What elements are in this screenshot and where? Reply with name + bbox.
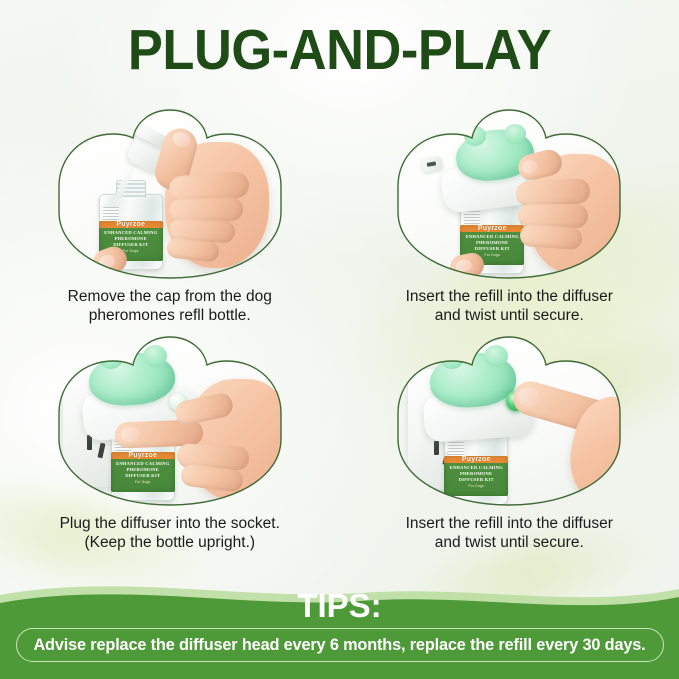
step-panel-4: Puyrzoe ENHANCED CALMING PHEROMONE DIFFU… xyxy=(340,335,679,552)
step-2-caption: Insert the refill into the diffuser and … xyxy=(359,287,659,325)
step-2-photo-clip: Puyrzoe ENHANCED CALMING PHEROMONE DIFFU… xyxy=(386,108,632,280)
tips-content: TIPS: Advise replace the diffuser head e… xyxy=(0,575,679,679)
brand-name: Puyrzoe xyxy=(478,225,507,233)
finger-nail xyxy=(516,385,542,409)
ring-finger xyxy=(520,224,583,250)
step-4-photo-clip: Puyrzoe ENHANCED CALMING PHEROMONE DIFFU… xyxy=(386,335,632,507)
step-1-photo: Puyrzoe ENHANCED CALMING PHEROMONE DIFFU… xyxy=(47,108,293,280)
socket-hole xyxy=(97,443,105,459)
step-2-caption-line-1: Insert the refill into the diffuser xyxy=(359,287,659,306)
step-1-caption-line-2: pheromones refll bottle. xyxy=(20,306,320,325)
tips-title: TIPS: xyxy=(297,589,381,623)
finger-nail xyxy=(97,253,116,271)
finger-nail xyxy=(120,427,140,443)
step-1-photo-clip: Puyrzoe ENHANCED CALMING PHEROMONE DIFFU… xyxy=(47,108,293,280)
label-text: ENHANCED CALMING PHEROMONE DIFFUSER KIT xyxy=(116,461,169,479)
diffuser-ear-right xyxy=(143,345,167,367)
bottle-label: Puyrzoe ENHANCED CALMING PHEROMONE DIFFU… xyxy=(111,452,175,492)
bottle-label: Puyrzoe ENHANCED CALMING PHEROMONE DIFFU… xyxy=(444,456,508,496)
brand-name: Puyrzoe xyxy=(116,221,145,229)
thumb-nail xyxy=(521,159,539,175)
step-panel-3: Puyrzoe ENHANCED CALMING PHEROMONE DIFFU… xyxy=(0,335,340,552)
label-line-3: DIFFUSER KIT xyxy=(116,473,169,479)
step-1-caption: Remove the cap from the dog pheromones r… xyxy=(20,287,320,325)
page-title: PLUG-AND-PLAY xyxy=(27,22,652,79)
label-footnote: For Dogs xyxy=(135,480,151,484)
diffuser-ear-left xyxy=(99,347,123,369)
plug-prong xyxy=(427,161,437,167)
step-4-caption-line-2: and twist until secure. xyxy=(359,533,659,552)
step-2-photo: Puyrzoe ENHANCED CALMING PHEROMONE DIFFU… xyxy=(386,108,632,280)
label-footnote: For Dogs xyxy=(468,484,484,488)
step-3-caption-line-1: Plug the diffuser into the socket. xyxy=(20,514,320,533)
step-3-photo: Puyrzoe ENHANCED CALMING PHEROMONE DIFFU… xyxy=(47,335,293,507)
label-footnote: For Dogs xyxy=(123,249,139,253)
label-footnote: For Dogs xyxy=(484,253,500,257)
step-3-caption-line-2: (Keep the bottle upright.) xyxy=(20,533,320,552)
step-4-photo: Puyrzoe ENHANCED CALMING PHEROMONE DIFFU… xyxy=(386,335,632,507)
finger-nail xyxy=(455,258,473,273)
step-1-caption-line-1: Remove the cap from the dog xyxy=(20,287,320,306)
label-line-3: DIFFUSER KIT xyxy=(450,477,503,483)
index-finger xyxy=(516,178,591,207)
brand-name: Puyrzoe xyxy=(128,452,157,460)
tips-text-pill: Advise replace the diffuser head every 6… xyxy=(16,628,664,662)
step-panel-1: Puyrzoe ENHANCED CALMING PHEROMONE DIFFU… xyxy=(0,108,340,325)
label-line-3: DIFFUSER KIT xyxy=(466,246,519,252)
steps-grid: Puyrzoe ENHANCED CALMING PHEROMONE DIFFU… xyxy=(0,108,679,552)
step-3-caption: Plug the diffuser into the socket. (Keep… xyxy=(20,514,320,552)
step-3-photo-clip: Puyrzoe ENHANCED CALMING PHEROMONE DIFFU… xyxy=(47,335,293,507)
label-text: ENHANCED CALMING PHEROMONE DIFFUSER KIT xyxy=(450,465,503,483)
step-panel-2: Puyrzoe ENHANCED CALMING PHEROMONE DIFFU… xyxy=(340,108,679,325)
step-4-caption-line-1: Insert the refill into the diffuser xyxy=(359,514,659,533)
tips-banner: TIPS: Advise replace the diffuser head e… xyxy=(0,575,679,679)
brand-name: Puyrzoe xyxy=(462,456,491,464)
thumb-nail xyxy=(171,131,192,149)
socket-hole xyxy=(434,441,439,455)
step-4-caption: Insert the refill into the diffuser and … xyxy=(359,514,659,552)
step-2-caption-line-2: and twist until secure. xyxy=(359,306,659,325)
label-text: ENHANCED CALMING PHEROMONE DIFFUSER KIT xyxy=(466,234,519,252)
label-text: ENHANCED CALMING PHEROMONE DIFFUSER KIT xyxy=(104,230,157,248)
infographic-page: PLUG-AND-PLAY Puyrzoe ENHANCED CALMING xyxy=(0,0,679,679)
